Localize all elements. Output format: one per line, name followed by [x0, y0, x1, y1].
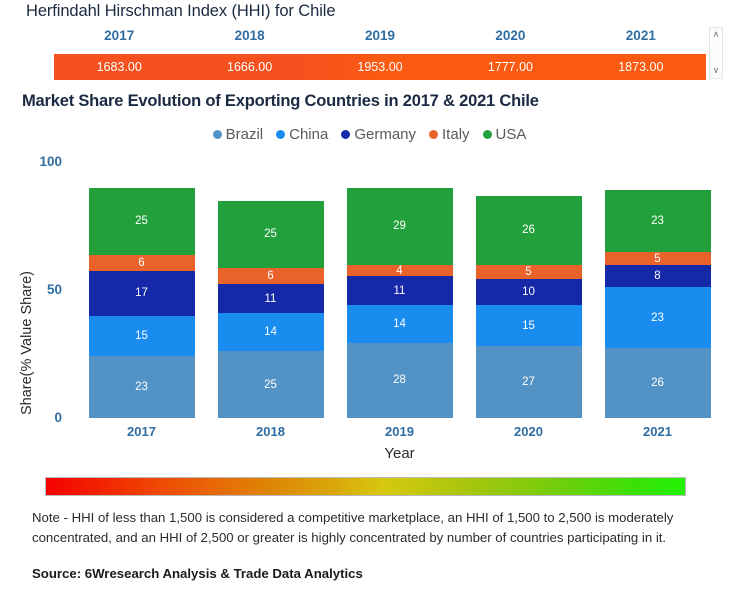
bar-group-2020: 2651015272020	[464, 150, 593, 418]
bar-group-2021: 235823262021	[593, 150, 722, 418]
x-axis-label-2019: 2019	[335, 424, 464, 439]
x-axis-label-2021: 2021	[593, 424, 722, 439]
legend-swatch-china	[276, 130, 285, 139]
legend-label-germany: Germany	[354, 126, 416, 143]
hhi-year-2021: 2021	[576, 28, 706, 54]
vertical-scrollbar[interactable]: ∧ ∨	[709, 27, 723, 79]
legend-label-italy: Italy	[442, 126, 470, 143]
hhi-year-2017: 2017	[54, 28, 184, 54]
bar-segment-italy-2017[interactable]: 6	[89, 255, 195, 271]
bar-segment-brazil-2019[interactable]: 28	[347, 343, 453, 418]
y-axis-tick-50: 50	[14, 282, 62, 297]
bar-segment-china-2021[interactable]: 23	[605, 287, 711, 349]
legend-swatch-italy	[429, 130, 438, 139]
bar-segment-brazil-2020[interactable]: 27	[476, 346, 582, 418]
legend-item-italy[interactable]: Italy	[429, 126, 470, 143]
chart-title: Market Share Evolution of Exporting Coun…	[22, 92, 539, 111]
hhi-year-header-row: 2017 2018 2019 2020 2021	[54, 28, 706, 54]
bar-segment-china-2018[interactable]: 14	[218, 313, 324, 351]
bar-segment-germany-2021[interactable]: 8	[605, 265, 711, 286]
bar-segment-usa-2018[interactable]: 25	[218, 201, 324, 268]
bar-segment-usa-2019[interactable]: 29	[347, 188, 453, 266]
bar-segment-usa-2021[interactable]: 23	[605, 190, 711, 252]
footnote-text: Note - HHI of less than 1,500 is conside…	[32, 508, 704, 548]
legend-item-brazil[interactable]: Brazil	[213, 126, 264, 143]
bar-segment-brazil-2017[interactable]: 23	[89, 356, 195, 418]
hhi-value-row: 1683.00 1666.00 1953.00 1777.00 1873.00	[54, 54, 706, 80]
legend-label-brazil: Brazil	[226, 126, 264, 143]
legend-swatch-usa	[483, 130, 492, 139]
bar-segment-germany-2017[interactable]: 17	[89, 271, 195, 317]
x-axis-title: Year	[77, 445, 722, 462]
legend-swatch-germany	[341, 130, 350, 139]
bar-segment-italy-2020[interactable]: 5	[476, 265, 582, 278]
bar-segment-germany-2020[interactable]: 10	[476, 279, 582, 306]
bar-segment-italy-2019[interactable]: 4	[347, 265, 453, 276]
legend-item-usa[interactable]: USA	[483, 126, 527, 143]
chart-legend: Brazil China Germany Italy USA	[0, 126, 739, 143]
bar-group-2017: 2561715232017	[77, 150, 206, 418]
bar-segment-usa-2020[interactable]: 26	[476, 196, 582, 266]
bar-group-2019: 2941114282019	[335, 150, 464, 418]
legend-item-germany[interactable]: Germany	[341, 126, 416, 143]
legend-label-china: China	[289, 126, 328, 143]
hhi-value-2017: 1683.00	[54, 60, 184, 74]
bar-segment-brazil-2018[interactable]: 25	[218, 351, 324, 418]
hhi-year-2020: 2020	[445, 28, 575, 54]
stacked-bar-2021[interactable]: 23582326	[605, 190, 711, 418]
hhi-year-2019: 2019	[315, 28, 445, 54]
legend-item-china[interactable]: China	[276, 126, 328, 143]
stacked-bar-2020[interactable]: 265101527	[476, 196, 582, 418]
bar-segment-china-2020[interactable]: 15	[476, 305, 582, 345]
x-axis-label-2020: 2020	[464, 424, 593, 439]
y-axis-tick-100: 100	[14, 154, 62, 169]
legend-label-usa: USA	[496, 126, 527, 143]
hhi-value-2021: 1873.00	[576, 60, 706, 74]
bar-segment-usa-2017[interactable]: 25	[89, 188, 195, 255]
hhi-year-2018: 2018	[184, 28, 314, 54]
x-axis-label-2018: 2018	[206, 424, 335, 439]
x-axis-label-2017: 2017	[77, 424, 206, 439]
source-text: Source: 6Wresearch Analysis & Trade Data…	[32, 566, 363, 581]
hhi-table: 2017 2018 2019 2020 2021 1683.00 1666.00…	[54, 28, 706, 80]
bar-group-2018: 2561114252018	[206, 150, 335, 418]
legend-swatch-brazil	[213, 130, 222, 139]
hhi-value-2019: 1953.00	[315, 60, 445, 74]
stacked-bar-2017[interactable]: 256171523	[89, 188, 195, 418]
hhi-value-2018: 1666.00	[184, 60, 314, 74]
bar-groups-container: 2561715232017256111425201829411142820192…	[77, 150, 722, 418]
bar-segment-italy-2018[interactable]: 6	[218, 268, 324, 284]
bar-segment-china-2019[interactable]: 14	[347, 305, 453, 343]
bar-segment-germany-2018[interactable]: 11	[218, 284, 324, 313]
hhi-value-2020: 1777.00	[445, 60, 575, 74]
bar-segment-brazil-2021[interactable]: 26	[605, 348, 711, 418]
chart-plot-area: Share(% Value Share) 100 50 0 2561715232…	[0, 150, 739, 450]
bar-segment-italy-2021[interactable]: 5	[605, 252, 711, 265]
chevron-down-icon[interactable]: ∨	[713, 67, 720, 75]
bar-segment-germany-2019[interactable]: 11	[347, 276, 453, 305]
chevron-up-icon[interactable]: ∧	[713, 31, 720, 39]
stacked-bar-2019[interactable]: 294111428	[347, 188, 453, 418]
stacked-bar-2018[interactable]: 256111425	[218, 201, 324, 418]
y-axis-tick-0: 0	[14, 410, 62, 425]
hhi-page-title: Herfindahl Hirschman Index (HHI) for Chi…	[26, 2, 335, 21]
hhi-concentration-gradient-scale	[45, 477, 686, 496]
bar-segment-china-2017[interactable]: 15	[89, 316, 195, 356]
